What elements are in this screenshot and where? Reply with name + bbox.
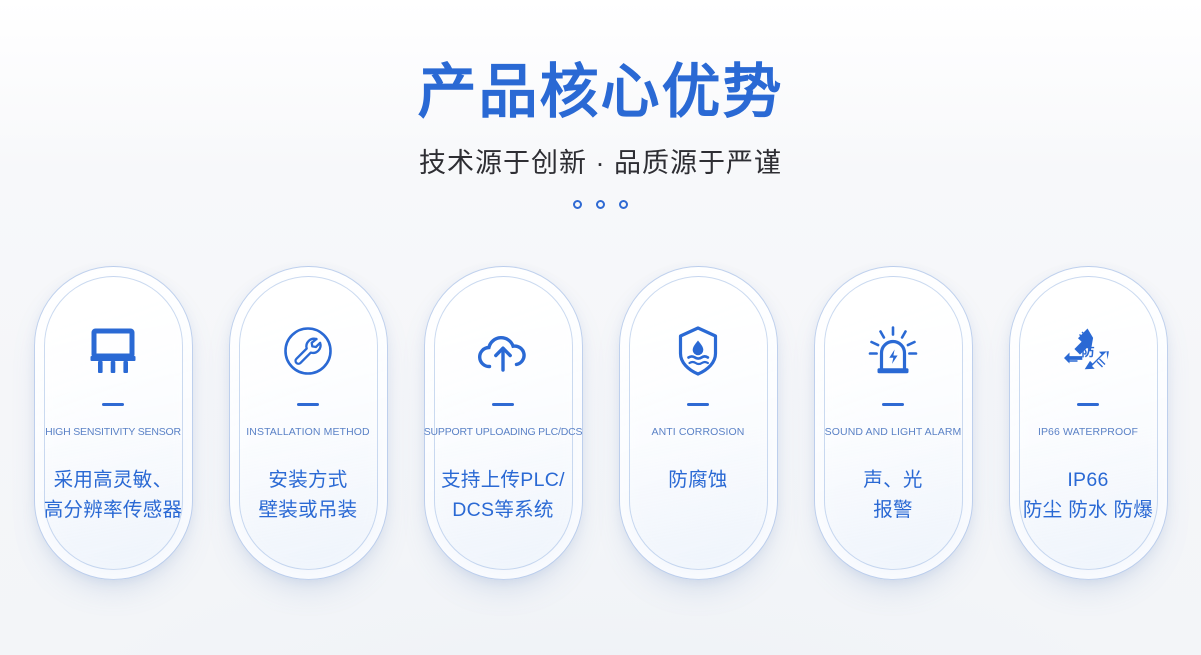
wrench-circle-icon [282,325,334,377]
shield-droplet-icon [676,325,720,377]
cloud-upload-icon [474,325,532,377]
card-cn-label: 支持上传PLC/ DCS等系统 [441,465,565,525]
card-en-label: HIGH SENSITIVITY SENSOR [45,426,181,439]
card-en-label: SUPPORT UPLOADING PLC/DCS [424,426,583,439]
feature-card-high-sensitivity-sensor[interactable]: HIGH SENSITIVITY SENSOR 采用高灵敏、 高分辨率传感器 [34,266,193,580]
sensor-icon [87,325,139,377]
recycle-protect-icon: 防 [1061,325,1115,377]
card-cn-label: 声、光 报警 [863,465,922,525]
divider-rule [1077,403,1099,406]
dot-icon [596,200,605,209]
card-en-label: SOUND AND LIGHT ALARM [825,426,962,439]
divider-rule [882,403,904,406]
feature-card-support-uploading[interactable]: SUPPORT UPLOADING PLC/DCS 支持上传PLC/ DCS等系… [424,266,583,580]
page-root: 产品核心优势 技术源于创新 · 品质源于严谨 [0,0,1201,655]
page-subtitle: 技术源于创新 · 品质源于严谨 [0,127,1201,180]
feature-card-list: HIGH SENSITIVITY SENSOR 采用高灵敏、 高分辨率传感器 I… [0,266,1201,584]
decorative-dots [0,180,1201,209]
feature-card-installation-method[interactable]: INSTALLATION METHOD 安装方式 壁装或吊装 [229,266,388,580]
card-en-label: IP66 WATERPROOF [1038,426,1138,439]
divider-rule [687,403,709,406]
feature-card-ip66-waterproof[interactable]: 防 IP66 WATERPROOF IP66 防尘 防水 防爆 [1009,266,1168,580]
divider-rule [297,403,319,406]
card-cn-label: IP66 防尘 防水 防爆 [1023,465,1153,525]
page-header: 产品核心优势 技术源于创新 · 品质源于严谨 [0,0,1201,209]
feature-card-anti-corrosion[interactable]: ANTI CORROSION 防腐蚀 [619,266,778,580]
alarm-siren-icon [866,325,920,377]
feature-card-sound-light-alarm[interactable]: SOUND AND LIGHT ALARM 声、光 报警 [814,266,973,580]
divider-rule [492,403,514,406]
page-title: 产品核心优势 [0,0,1201,127]
card-cn-label: 安装方式 壁装或吊装 [258,465,357,525]
dot-icon [619,200,628,209]
card-en-label: ANTI CORROSION [652,426,745,439]
divider-rule [102,403,124,406]
svg-text:防: 防 [1081,344,1094,359]
card-cn-label: 防腐蚀 [668,465,727,495]
card-cn-label: 采用高灵敏、 高分辨率传感器 [44,465,183,525]
card-en-label: INSTALLATION METHOD [246,426,369,439]
dot-icon [573,200,582,209]
